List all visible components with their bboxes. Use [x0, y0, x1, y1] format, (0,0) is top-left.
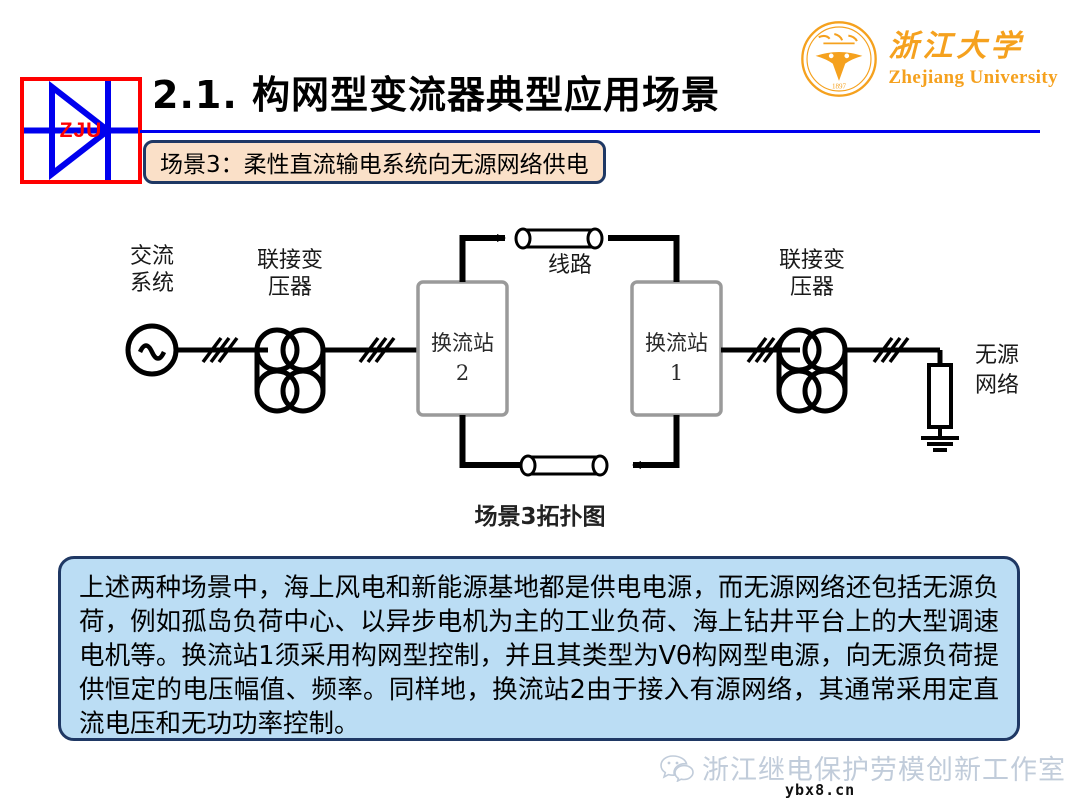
university-branding: 1897 浙江大学 Zhejiang University	[800, 20, 1058, 98]
scene-label-box: 场景3：柔性直流输电系统向无源网络供电	[143, 140, 606, 184]
dc-cable-top	[516, 229, 602, 248]
university-name-cn: 浙江大学	[888, 32, 1024, 62]
transformer-left-label-line1: 联接变	[257, 248, 323, 273]
dc-line-label: 线路	[548, 253, 592, 278]
ac-source-symbol	[128, 326, 176, 374]
slide-root: ZJU 2.1. 构网型变流器典型应用场景 场景3：柔性直流输电系统向无源网络供…	[0, 0, 1080, 810]
topology-diagram: 交流 系统 联接变 压器	[0, 210, 1080, 540]
zju-mark-text: ZJU	[60, 119, 103, 142]
dc-cable-bottom	[521, 456, 607, 475]
watermark-url: ybx8.cn	[785, 781, 855, 799]
summary-note-box: 上述两种场景中，海上风电和新能源基地都是供电电源，而无源网络还包括无源负荷，例如…	[58, 556, 1020, 741]
converter-station-2-label-line1: 换流站	[431, 331, 494, 355]
converter-station-2-label-line2: 2	[456, 361, 469, 385]
scene-label-text: 场景3：柔性直流输电系统向无源网络供电	[160, 145, 589, 179]
ac-system-label-line2: 系统	[130, 271, 174, 296]
watermark-account-name: 浙江继电保护劳模创新工作室	[702, 748, 1066, 787]
diagram-caption: 场景3拓扑图	[0, 497, 1080, 531]
connecting-transformer-left	[257, 330, 323, 411]
transformer-right-label-line2: 压器	[790, 275, 834, 300]
zhejiang-university-seal-icon: 1897	[800, 20, 878, 98]
ground-icon	[921, 438, 959, 450]
converter-station-2: 换流站 2	[418, 282, 507, 415]
wechat-icon	[660, 754, 694, 782]
title-underline-rule	[140, 130, 1040, 133]
passive-network-load	[921, 350, 959, 450]
university-name-en: Zhejiang University	[888, 68, 1058, 87]
transformer-left-label-line2: 压器	[268, 275, 312, 300]
transformer-right-label-line1: 联接变	[779, 248, 845, 273]
ac-system-label-line1: 交流	[130, 244, 174, 269]
summary-note-text: 上述两种场景中，海上风电和新能源基地都是供电电源，而无源网络还包括无源负荷，例如…	[79, 571, 999, 741]
passive-network-label-line2: 网络	[975, 373, 1019, 398]
zju-diode-logo: ZJU	[20, 77, 142, 184]
connecting-transformer-right	[779, 330, 845, 411]
wechat-watermark: 浙江继电保护劳模创新工作室	[660, 748, 1066, 787]
page-title: 2.1. 构网型变流器典型应用场景	[152, 64, 720, 119]
passive-network-label-line1: 无源	[975, 343, 1019, 368]
seal-year: 1897	[832, 83, 847, 91]
university-wordmark: 浙江大学 Zhejiang University	[888, 32, 1058, 87]
zju-diode-icon: ZJU	[24, 81, 138, 180]
converter-station-1-label-line2: 1	[670, 361, 683, 385]
converter-station-1: 换流站 1	[632, 282, 721, 415]
converter-station-1-label-line1: 换流站	[645, 331, 708, 355]
